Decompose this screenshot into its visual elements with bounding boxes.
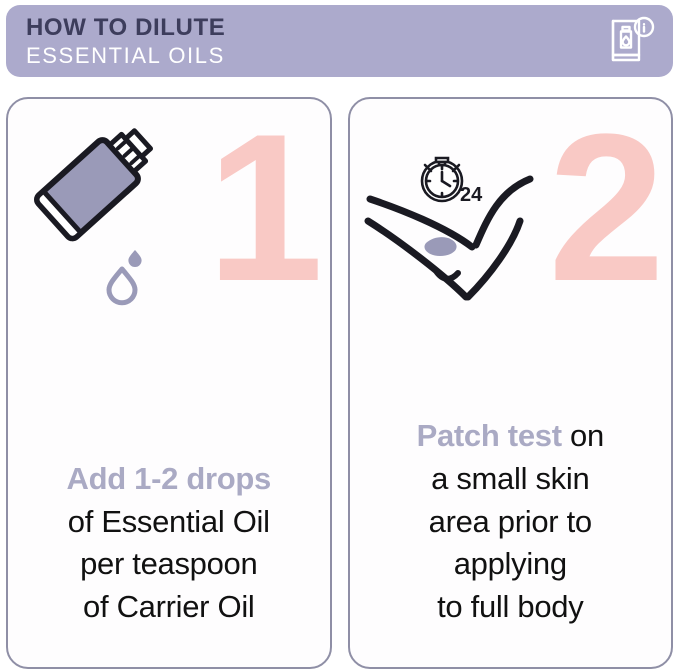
step-caption-2-line-4: to full body (358, 586, 664, 629)
step-caption-2-line-2: area prior to (358, 501, 664, 544)
step-caption-1: Add 1-2 drops of Essential Oil per teasp… (16, 458, 322, 629)
header-bar: HOW TO DILUTE ESSENTIAL OILS (6, 5, 673, 77)
dropper-bottle-dripping-illustration (18, 117, 233, 317)
oil-bottle-info-icon (609, 16, 655, 66)
step-caption-2-line-1: a small skin (358, 458, 664, 501)
page-subtitle: ESSENTIAL OILS (26, 45, 225, 67)
step-caption-2: Patch test on a small skin area prior to… (358, 415, 664, 629)
step-caption-2-accent-trailing: on (562, 418, 604, 453)
step-caption-2-accent: Patch test (417, 418, 562, 453)
stopwatch-hours-label: 24 (460, 184, 483, 206)
step-caption-1-accent: Add 1-2 drops (16, 458, 322, 501)
steps-row: 1 Add 1-2 drops (0, 97, 679, 669)
step-caption-1-line-1: of Essential Oil (16, 501, 322, 544)
header-title-group: HOW TO DILUTE ESSENTIAL OILS (26, 16, 225, 67)
step-caption-1-line-2: per teaspoon (16, 543, 322, 586)
inner-elbow-patch-test-illustration: 24 (360, 117, 575, 317)
step-card-2: 2 (348, 97, 674, 669)
page-title: HOW TO DILUTE (26, 16, 225, 40)
step-caption-2-first-line: Patch test on (358, 415, 664, 458)
step-caption-2-line-3: applying (358, 543, 664, 586)
step-card-1: 1 Add 1-2 drops (6, 97, 332, 669)
step-caption-1-line-3: of Carrier Oil (16, 586, 322, 629)
